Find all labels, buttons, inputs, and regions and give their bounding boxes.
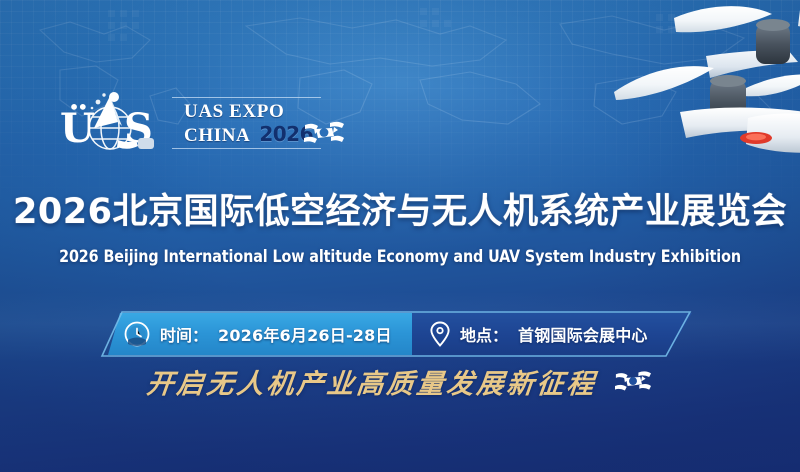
uas-globe-drone-logo-icon: Ü S: [58, 88, 162, 158]
background-vignette: [0, 0, 800, 472]
page-subtitle: 2026 Beijing International Low altitude …: [14, 247, 786, 266]
event-slogan-row: 开启无人机产业高质量发展新征程: [0, 362, 800, 401]
event-time-segment: 时间： 2026年6月26日-28日: [108, 313, 412, 355]
place-value: 首钢国际会展中心: [518, 322, 648, 346]
logo-year: 2026: [259, 124, 313, 144]
place-label: 地点：: [460, 322, 508, 346]
logo-wordmark: UAS EXPO CHINA 2026: [172, 97, 321, 149]
quadcopter-drone-photo: [560, 0, 800, 162]
time-value: 2026年6月26日-28日: [218, 322, 392, 346]
event-info-bar: 时间： 2026年6月26日-28日 地点： 首钢国际会展中心: [108, 313, 692, 355]
grid-mesh-icon: [0, 0, 800, 472]
time-label: 时间：: [160, 322, 208, 346]
clock-icon: [124, 321, 150, 347]
event-place-segment: 地点： 首钢国际会展中心: [412, 313, 692, 355]
logo-line-2-text: CHINA: [184, 126, 250, 145]
drone-icon: [613, 368, 653, 395]
page-title: 2026北京国际低空经济与无人机系统产业展览会: [0, 183, 800, 234]
event-slogan: 开启无人机产业高质量发展新征程: [145, 362, 599, 401]
background-glow: [0, 0, 800, 354]
event-logo: Ü S: [58, 88, 321, 158]
exhibition-poster: Ü S: [0, 0, 800, 472]
map-pin-icon: [430, 321, 450, 347]
logo-line-1: UAS EXPO: [184, 102, 313, 121]
